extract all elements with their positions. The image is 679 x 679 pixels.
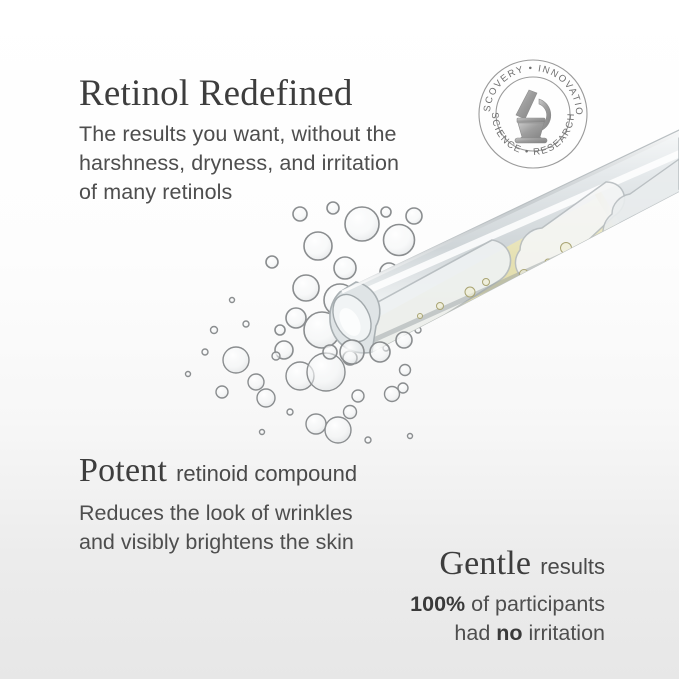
- potent-line-1: Reduces the look of wrinkles: [79, 499, 419, 528]
- potent-tail: retinoid compound: [176, 459, 357, 489]
- subheadline-line-1: The results you want, without the: [79, 120, 451, 149]
- gentle-line-2: had no irritation: [410, 619, 605, 648]
- gentle-description: 100% of participants had no irritation: [410, 590, 605, 648]
- gentle-tail: results: [540, 552, 605, 582]
- subheadline-line-2: harshness, dryness, and irritation: [79, 149, 451, 178]
- gentle-line-2-strong: no: [496, 621, 522, 645]
- gentle-stat-rest: of participants: [465, 592, 605, 616]
- potent-feature-block: Potent retinoid compound Reduces the loo…: [79, 452, 419, 557]
- science-seal-badge: DISCOVERY • INNOVATION SCIENCE • RESEARC…: [477, 58, 589, 170]
- gentle-line-2-prefix: had: [454, 621, 496, 645]
- potent-heading: Potent retinoid compound: [79, 452, 419, 490]
- gentle-word: Gentle: [439, 545, 531, 583]
- subheadline-line-3: of many retinols: [79, 178, 451, 207]
- gentle-feature-block: Gentle results 100% of participants had …: [410, 545, 605, 648]
- bubble-overlay: [323, 332, 412, 364]
- microscope-icon: [515, 90, 551, 143]
- product-feature-graphic: Retinol Redefined The results you want, …: [0, 0, 679, 679]
- bubble-cluster: [186, 202, 441, 443]
- potent-word: Potent: [79, 452, 167, 490]
- gentle-line-1: 100% of participants: [410, 590, 605, 619]
- potent-description: Reduces the look of wrinkles and visibly…: [79, 499, 419, 557]
- gentle-stat-value: 100%: [410, 592, 465, 616]
- gentle-heading: Gentle results: [410, 545, 605, 583]
- badge-arc-top-text: DISCOVERY • INNOVATION: [477, 58, 584, 116]
- subheadline: The results you want, without the harshn…: [79, 120, 451, 207]
- headline: Retinol Redefined: [79, 72, 353, 116]
- gentle-line-2-suffix: irritation: [523, 621, 605, 645]
- potent-line-2: and visibly brightens the skin: [79, 528, 419, 557]
